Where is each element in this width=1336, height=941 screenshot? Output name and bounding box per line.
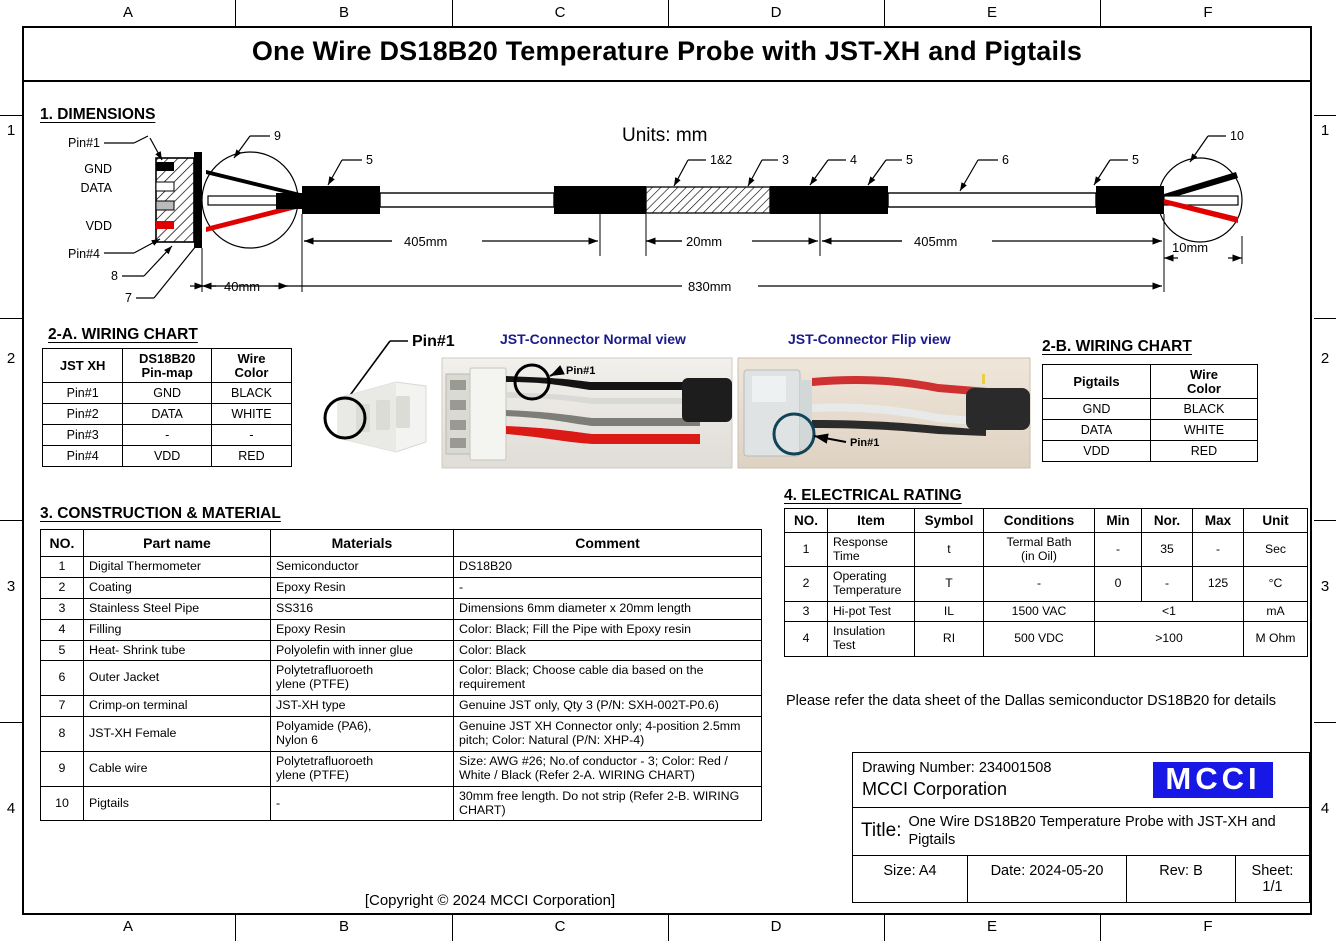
cell: 3 [41, 598, 84, 619]
cell: - [123, 425, 212, 446]
electrical-th-item: Item [828, 509, 915, 533]
cell: Polyolefin with inner glue [271, 640, 454, 661]
cell: 500 VDC [984, 622, 1095, 656]
cell: Heat- Shrink tube [84, 640, 271, 661]
drawing-number: Drawing Number: 234001508 [862, 759, 1108, 778]
title-block-meta-row: Size: A4 Date: 2024-05-20 Rev: B Sheet: … [853, 856, 1309, 902]
cell: DS18B20 [454, 557, 762, 578]
construction-material-table: NO. Part name Materials Comment 1Digital… [40, 529, 762, 821]
frame-tick-top-de [884, 0, 885, 26]
units-note: Units: mm [622, 125, 708, 146]
table-row: 2OperatingTemperatureT-0-125°C [785, 567, 1308, 601]
cell: JST-XH Female [84, 717, 271, 752]
cell: Crimp-on terminal [84, 696, 271, 717]
electrical-th-no: NO. [785, 509, 828, 533]
table-row: VDD RED [1043, 441, 1258, 462]
cell: BLACK [1150, 399, 1257, 420]
callout-3: 3 [782, 153, 789, 167]
zone-row-3-left: 3 [2, 578, 20, 595]
frame-tick-left-12 [0, 115, 22, 116]
zone-row-1-left: 1 [2, 122, 20, 139]
construction-header-row: NO. Part name Materials Comment [41, 530, 762, 557]
cell: Color: Black; Fill the Pipe with Epoxy r… [454, 619, 762, 640]
frame-tick-top-bc [452, 0, 453, 26]
cell: Semiconductor [271, 557, 454, 578]
wiring-a-th-color-l2: Color [235, 365, 269, 380]
zone-col-f-top: F [1188, 4, 1228, 21]
cell: Pigtails [84, 786, 271, 821]
frame-tick-left-34 [0, 520, 22, 521]
wiring-b-header-row: Pigtails Wire Color [1043, 365, 1258, 399]
electrical-th-unit: Unit [1244, 509, 1308, 533]
sheet-revision: Rev: B [1127, 856, 1236, 902]
electrical-th-symbol: Symbol [915, 509, 984, 533]
table-row: 10Pigtails-30mm free length. Do not stri… [41, 786, 762, 821]
electrical-th-min: Min [1095, 509, 1142, 533]
table-row: Pin#2 DATA WHITE [43, 404, 292, 425]
callout-4: 4 [850, 153, 857, 167]
electrical-rating-table: NO. Item Symbol Conditions Min Nor. Max … [784, 508, 1308, 657]
cell: Sec [1244, 533, 1308, 567]
cell: <1 [1095, 601, 1244, 622]
construction-th-part: Part name [84, 530, 271, 557]
cell: 30mm free length. Do not strip (Refer 2-… [454, 786, 762, 821]
frame-tick-bot-ab [235, 915, 236, 941]
cell: 2 [41, 577, 84, 598]
zone-col-d-bottom: D [756, 918, 796, 935]
frame-tick-left-4 [0, 722, 22, 723]
cell: Pin#3 [43, 425, 123, 446]
table-row: 3Stainless Steel PipeSS316Dimensions 6mm… [41, 598, 762, 619]
title-divider [22, 80, 1312, 82]
callout-10: 10 [1230, 129, 1244, 143]
section-heading-wiring-b: 2-B. WIRING CHART [1042, 338, 1192, 356]
zone-col-e-top: E [972, 4, 1012, 21]
table-row: Pin#1 GND BLACK [43, 383, 292, 404]
cell: 35 [1142, 533, 1193, 567]
cell: Dimensions 6mm diameter x 20mm length [454, 598, 762, 619]
cell: Polyamide (PA6),Nylon 6 [271, 717, 454, 752]
frame-tick-left-23 [0, 318, 22, 319]
jst-flip-view-photo: JST-Connector Flip view Pin#1 [738, 331, 1030, 468]
electrical-th-nor: Nor. [1142, 509, 1193, 533]
electrical-th-max: Max [1193, 509, 1244, 533]
copyright-notice: [Copyright © 2024 MCCI Corporation] [180, 892, 800, 909]
callout-1and2: 1&2 [710, 153, 732, 167]
cell: Genuine JST XH Connector only; 4-positio… [454, 717, 762, 752]
cell: GND [123, 383, 212, 404]
wiring-a-th-pinmap-l2: Pin-map [142, 365, 193, 380]
zone-col-f-bottom: F [1188, 918, 1228, 935]
wiring-a-th-pinmap: DS18B20 Pin-map [123, 349, 212, 383]
cell: GND [1043, 399, 1151, 420]
table-row: 7Crimp-on terminalJST-XH typeGenuine JST… [41, 696, 762, 717]
table-row: 4InsulationTestRI500 VDC>100M Ohm [785, 622, 1308, 656]
cell: 8 [41, 717, 84, 752]
cell: Hi-pot Test [828, 601, 915, 622]
frame-tick-right-23 [1314, 318, 1336, 319]
callout-9: 9 [274, 129, 281, 143]
normal-view-caption: JST-Connector Normal view [500, 331, 686, 347]
callout-7: 7 [125, 291, 132, 305]
zone-col-b-bottom: B [324, 918, 364, 935]
table-row: Pin#4 VDD RED [43, 446, 292, 467]
sheet-number: Sheet: 1/1 [1236, 856, 1309, 902]
zone-col-e-bottom: E [972, 918, 1012, 935]
label-vdd: VDD [86, 219, 112, 233]
frame-tick-bot-bc [452, 915, 453, 941]
zone-col-a-top: A [108, 4, 148, 21]
cell: Polytetrafluoroeth ylene (PTFE) [271, 751, 454, 786]
frame-tick-bot-de [884, 915, 885, 941]
cell: Pin#2 [43, 404, 123, 425]
zone-row-3-right: 3 [1316, 578, 1334, 595]
table-row: 1ResponseTimetTermal Bath(in Oil)-35-Sec [785, 533, 1308, 567]
frame-tick-top-cd [668, 0, 669, 26]
cell: DATA [123, 404, 212, 425]
dim-830mm: 830mm [688, 279, 731, 294]
cell: - [1142, 567, 1193, 601]
flip-view-caption: JST-Connector Flip view [788, 331, 951, 347]
cell: Filling [84, 619, 271, 640]
cell: 0 [1095, 567, 1142, 601]
electrical-header-row: NO. Item Symbol Conditions Min Nor. Max … [785, 509, 1308, 533]
cell: °C [1244, 567, 1308, 601]
table-row: GND BLACK [1043, 399, 1258, 420]
cell: DATA [1043, 420, 1151, 441]
table-row: 2CoatingEpoxy Resin- [41, 577, 762, 598]
dim-10mm: 10mm [1172, 240, 1208, 255]
table-row: 6 Outer JacketPolytetrafluoroeth ylene (… [41, 661, 762, 696]
table-row: 9Cable wirePolytetrafluoroeth ylene (PTF… [41, 751, 762, 786]
title-block: Drawing Number: 234001508 MCCI Corporati… [852, 752, 1310, 903]
cell: Stainless Steel Pipe [84, 598, 271, 619]
page-title: One Wire DS18B20 Temperature Probe with … [22, 36, 1312, 67]
label-pin4-left: Pin#4 [68, 247, 100, 261]
title-block-company-info: Drawing Number: 234001508 MCCI Corporati… [853, 753, 1117, 807]
zone-row-2-right: 2 [1316, 350, 1334, 367]
cell: 125 [1193, 567, 1244, 601]
section-heading-wiring-a: 2-A. WIRING CHART [48, 326, 198, 344]
section-heading-electrical: 4. ELECTRICAL RATING [784, 487, 962, 505]
callout-8: 8 [111, 269, 118, 283]
cell: 2 [785, 567, 828, 601]
cell: 1500 VAC [984, 601, 1095, 622]
sheet-size: Size: A4 [853, 856, 968, 902]
cell: Polytetrafluoroeth ylene (PTFE) [271, 661, 454, 696]
frame-tick-right-34 [1314, 520, 1336, 521]
cell: - [211, 425, 291, 446]
cell: VDD [1043, 441, 1151, 462]
datasheet-note: Please refer the data sheet of the Dalla… [786, 692, 1306, 710]
cell: Pin#1 [43, 383, 123, 404]
zone-col-d-top: D [756, 4, 796, 21]
table-row: 1Digital ThermometerSemiconductorDS18B20 [41, 557, 762, 578]
callout-6: 6 [1002, 153, 1009, 167]
cell: WHITE [1150, 420, 1257, 441]
frame-tick-top-ef [1100, 0, 1101, 26]
table-row: DATA WHITE [1043, 420, 1258, 441]
zone-col-a-bottom: A [108, 918, 148, 935]
cell: - [1193, 533, 1244, 567]
zone-row-2-left: 2 [2, 350, 20, 367]
title-label: Title: [861, 820, 908, 842]
cell: mA [1244, 601, 1308, 622]
company-name: MCCI Corporation [862, 778, 1108, 801]
frame-tick-right-4 [1314, 722, 1336, 723]
cell: 3 [785, 601, 828, 622]
normal-view-pin1-label: Pin#1 [566, 365, 595, 377]
cell: RED [1150, 441, 1257, 462]
zone-row-4-right: 4 [1316, 800, 1334, 817]
title-block-title-row: Title: One Wire DS18B20 Temperature Prob… [853, 808, 1309, 855]
cell: 1 [41, 557, 84, 578]
mcci-logo-text: MCCI [1153, 762, 1272, 799]
table-row: 5Heat- Shrink tubePolyolefin with inner … [41, 640, 762, 661]
connector-photo-group: Pin#1 JST-Connector Normal view [300, 330, 1040, 480]
cell: Epoxy Resin [271, 619, 454, 640]
construction-th-no: NO. [41, 530, 84, 557]
dim-20mm: 20mm [686, 234, 722, 249]
cell: RED [211, 446, 291, 467]
cell: JST-XH type [271, 696, 454, 717]
cell: Coating [84, 577, 271, 598]
cell: T [915, 567, 984, 601]
photo-pin1-label: Pin#1 [412, 333, 455, 350]
wiring-b-th-color: Wire Color [1150, 365, 1257, 399]
cell: RI [915, 622, 984, 656]
cell: SS316 [271, 598, 454, 619]
wiring-a-th-color: Wire Color [211, 349, 291, 383]
cell: 1 [785, 533, 828, 567]
frame-tick-bot-ef [1100, 915, 1101, 941]
cell: Digital Thermometer [84, 557, 271, 578]
cell: 4 [41, 619, 84, 640]
cell: ResponseTime [828, 533, 915, 567]
cell: Color: Black [454, 640, 762, 661]
cell: 4 [785, 622, 828, 656]
mcci-logo: MCCI [1117, 753, 1309, 807]
label-data: DATA [81, 181, 113, 195]
sheet-date: Date: 2024-05-20 [968, 856, 1127, 902]
cell: Epoxy Resin [271, 577, 454, 598]
cell: OperatingTemperature [828, 567, 915, 601]
wiring-a-th-jst: JST XH [43, 349, 123, 383]
table-row: 8JST-XH FemalePolyamide (PA6),Nylon 6Gen… [41, 717, 762, 752]
cell: WHITE [211, 404, 291, 425]
title-value: One Wire DS18B20 Temperature Probe with … [908, 813, 1301, 849]
cell: 9 [41, 751, 84, 786]
frame-tick-right-12 [1314, 115, 1336, 116]
cell: 5 [41, 640, 84, 661]
cell: 10 [41, 786, 84, 821]
wiring-chart-a-table: JST XH DS18B20 Pin-map Wire Color Pin#1 … [42, 348, 292, 467]
zone-row-1-right: 1 [1316, 122, 1334, 139]
construction-th-materials: Materials [271, 530, 454, 557]
dimension-drawing: Units: mm GND DATA VDD Pin#1 Pin#4 8 7 [22, 96, 1314, 316]
construction-th-comment: Comment [454, 530, 762, 557]
zone-col-b-top: B [324, 4, 364, 21]
wiring-b-th-color-l2: Color [1187, 381, 1221, 396]
cell: >100 [1095, 622, 1244, 656]
table-row: Pin#3 - - [43, 425, 292, 446]
cell: Pin#4 [43, 446, 123, 467]
frame-tick-top-ab [235, 0, 236, 26]
drawing-sheet: A B C D E F A B C D E F 1 2 3 4 1 2 3 4 … [0, 0, 1336, 941]
callout-5c: 5 [1132, 153, 1139, 167]
wiring-chart-b-table: Pigtails Wire Color GND BLACK DATA WHITE… [1042, 364, 1258, 462]
cell: - [454, 577, 762, 598]
cell: Genuine JST only, Qty 3 (P/N: SXH-002T-P… [454, 696, 762, 717]
section-heading-construction: 3. CONSTRUCTION & MATERIAL [40, 505, 281, 523]
callout-5a: 5 [366, 153, 373, 167]
zone-col-c-top: C [540, 4, 580, 21]
electrical-th-conditions: Conditions [984, 509, 1095, 533]
cell: InsulationTest [828, 622, 915, 656]
dim-405mm-right: 405mm [914, 234, 957, 249]
cell: Termal Bath(in Oil) [984, 533, 1095, 567]
cell: VDD [123, 446, 212, 467]
cell: 7 [41, 696, 84, 717]
cell: 6 [41, 661, 84, 696]
cell: Cable wire [84, 751, 271, 786]
connector-isolated-photo: Pin#1 [325, 333, 455, 452]
cell: IL [915, 601, 984, 622]
zone-row-4-left: 4 [2, 800, 20, 817]
frame-tick-bot-cd [668, 915, 669, 941]
cell: Outer Jacket [84, 661, 271, 696]
zone-col-c-bottom: C [540, 918, 580, 935]
cell: Color: Black; Choose cable dia based on … [454, 661, 762, 696]
cell: - [271, 786, 454, 821]
label-pin1-left: Pin#1 [68, 136, 100, 150]
title-block-company-row: Drawing Number: 234001508 MCCI Corporati… [853, 753, 1309, 808]
cell: Size: AWG #26; No.of conductor - 3; Colo… [454, 751, 762, 786]
cell: M Ohm [1244, 622, 1308, 656]
table-row: 4FillingEpoxy ResinColor: Black; Fill th… [41, 619, 762, 640]
cell: - [984, 567, 1095, 601]
wiring-b-th-pigtails: Pigtails [1043, 365, 1151, 399]
cell: - [1095, 533, 1142, 567]
callout-5b: 5 [906, 153, 913, 167]
flip-view-pin1-label: Pin#1 [850, 437, 879, 449]
jst-normal-view-photo: JST-Connector Normal view Pin#1 [442, 331, 732, 468]
label-gnd: GND [84, 162, 112, 176]
cell: BLACK [211, 383, 291, 404]
table-row: 3Hi-pot TestIL1500 VAC<1mA [785, 601, 1308, 622]
dim-405mm-left: 405mm [404, 234, 447, 249]
cell: t [915, 533, 984, 567]
wiring-a-header-row: JST XH DS18B20 Pin-map Wire Color [43, 349, 292, 383]
